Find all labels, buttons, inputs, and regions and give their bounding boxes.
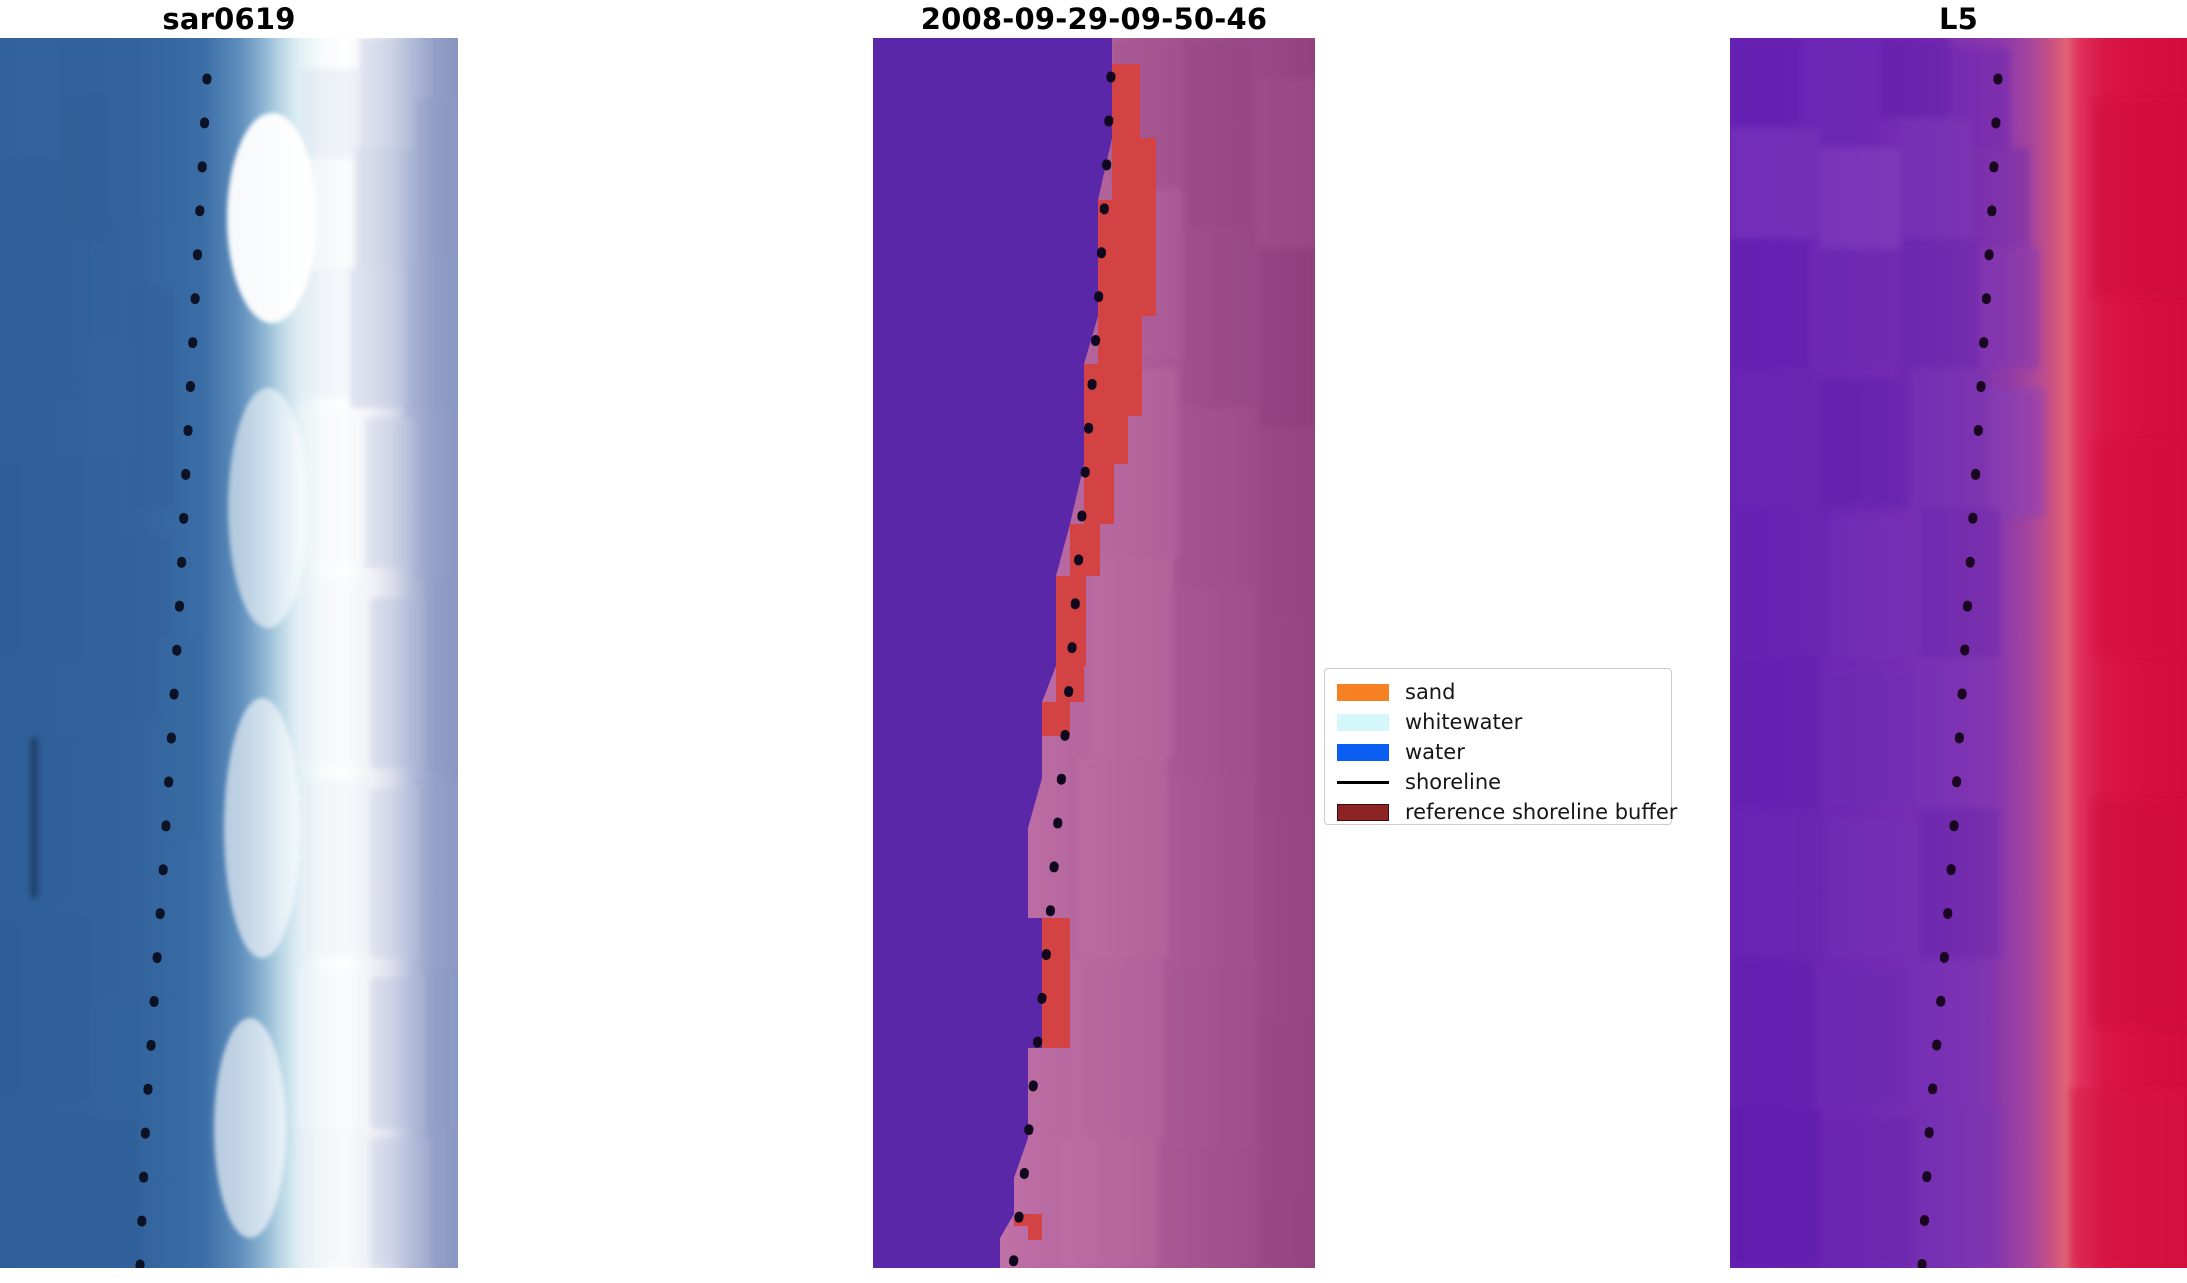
figure-canvas: sar0619 (0, 0, 2187, 1283)
water-swatch-icon (1337, 744, 1389, 761)
legend-item-shoreline: shoreline (1337, 767, 1661, 797)
reference-buffer-swatch-icon (1337, 804, 1389, 821)
legend-item-water: water (1337, 737, 1661, 767)
legend-label-reference-buffer: reference shoreline buffer (1405, 800, 1677, 824)
legend-label-sand: sand (1405, 680, 1455, 704)
classification-raster (873, 38, 1315, 1268)
sand-swatch-icon (1337, 684, 1389, 701)
sar-raster (0, 38, 458, 1268)
l5-raster (1730, 38, 2187, 1268)
panel-l5-image[interactable] (1730, 38, 2187, 1268)
whitewater-swatch-icon (1337, 714, 1389, 731)
legend-box[interactable]: sand whitewater water shoreline referenc… (1324, 668, 1672, 825)
panel-title-sar: sar0619 (0, 2, 458, 36)
panel-title-classification: 2008-09-29-09-50-46 (873, 2, 1315, 36)
shoreline-line-icon (1337, 774, 1389, 791)
panel-sar-image[interactable] (0, 38, 458, 1268)
legend-item-sand: sand (1337, 677, 1661, 707)
panel-title-l5: L5 (1730, 2, 2187, 36)
legend-label-water: water (1405, 740, 1465, 764)
legend-item-reference-buffer: reference shoreline buffer (1337, 797, 1661, 827)
panel-classification-image[interactable] (873, 38, 1315, 1268)
legend-item-whitewater: whitewater (1337, 707, 1661, 737)
legend-label-shoreline: shoreline (1405, 770, 1501, 794)
legend-label-whitewater: whitewater (1405, 710, 1522, 734)
